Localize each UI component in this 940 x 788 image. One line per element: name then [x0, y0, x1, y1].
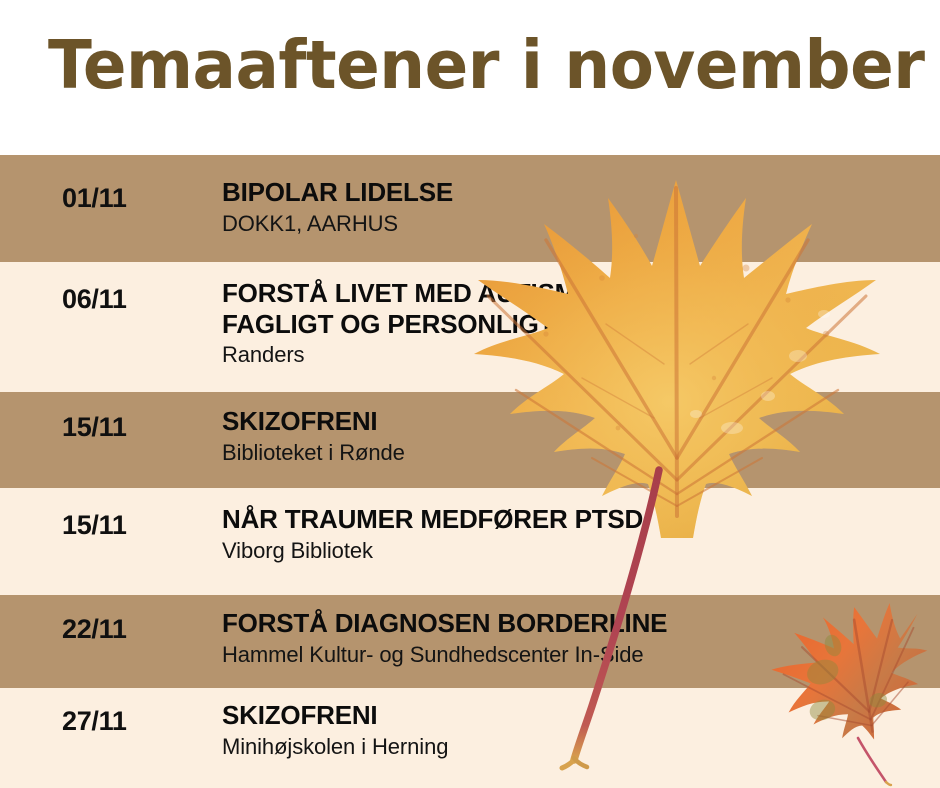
- event-title: BIPOLAR LIDELSE: [222, 177, 932, 208]
- event-title: SKIZOFRENI: [222, 406, 932, 437]
- event-title: FORSTÅ LIVET MED AUTISME UD FRA ET FAGLI…: [222, 278, 932, 339]
- event-text-block: SKIZOFRENIMinihøjskolen i Herning: [222, 700, 932, 761]
- schedule-row: 15/11NÅR TRAUMER MEDFØRER PTSDViborg Bib…: [0, 488, 940, 595]
- schedule-row-inner: 15/11SKIZOFRENIBiblioteket i Rønde: [0, 392, 940, 488]
- event-title: SKIZOFRENI: [222, 700, 932, 731]
- event-text-block: NÅR TRAUMER MEDFØRER PTSDViborg Bibliote…: [222, 504, 932, 565]
- event-date: 15/11: [62, 412, 127, 443]
- event-venue: Biblioteket i Rønde: [222, 440, 932, 467]
- schedule-row-inner: 06/11FORSTÅ LIVET MED AUTISME UD FRA ET …: [0, 262, 940, 392]
- event-venue: Randers: [222, 342, 932, 369]
- event-venue: DOKK1, AARHUS: [222, 211, 932, 238]
- event-text-block: FORSTÅ LIVET MED AUTISME UD FRA ET FAGLI…: [222, 278, 932, 369]
- event-venue: Hammel Kultur- og Sundhedscenter In-Side: [222, 642, 932, 669]
- event-text-block: SKIZOFRENIBiblioteket i Rønde: [222, 406, 932, 467]
- event-venue: Minihøjskolen i Herning: [222, 734, 932, 761]
- event-date: 27/11: [62, 706, 127, 737]
- schedule-row: 06/11FORSTÅ LIVET MED AUTISME UD FRA ET …: [0, 262, 940, 392]
- event-date: 06/11: [62, 284, 127, 315]
- event-title: NÅR TRAUMER MEDFØRER PTSD: [222, 504, 932, 535]
- event-venue: Viborg Bibliotek: [222, 538, 932, 565]
- schedule-row-inner: 27/11SKIZOFRENIMinihøjskolen i Herning: [0, 688, 940, 788]
- schedule-row-inner: 01/11BIPOLAR LIDELSEDOKK1, AARHUS: [0, 155, 940, 262]
- event-text-block: FORSTÅ DIAGNOSEN BORDERLINEHammel Kultur…: [222, 608, 932, 669]
- event-date: 01/11: [62, 183, 127, 214]
- schedule-row: 15/11SKIZOFRENIBiblioteket i Rønde: [0, 392, 940, 488]
- schedule-row: 22/11FORSTÅ DIAGNOSEN BORDERLINEHammel K…: [0, 595, 940, 688]
- event-title: FORSTÅ DIAGNOSEN BORDERLINE: [222, 608, 932, 639]
- schedule-row: 01/11BIPOLAR LIDELSEDOKK1, AARHUS: [0, 155, 940, 262]
- schedule-row-inner: 15/11NÅR TRAUMER MEDFØRER PTSDViborg Bib…: [0, 488, 940, 595]
- schedule-row-inner: 22/11FORSTÅ DIAGNOSEN BORDERLINEHammel K…: [0, 595, 940, 688]
- event-date: 22/11: [62, 614, 127, 645]
- poster-header: Temaaftener i november: [0, 0, 940, 155]
- page-title: Temaaftener i november: [48, 26, 924, 105]
- poster-canvas: 01/11BIPOLAR LIDELSEDOKK1, AARHUS06/11FO…: [0, 0, 940, 788]
- event-text-block: BIPOLAR LIDELSEDOKK1, AARHUS: [222, 177, 932, 238]
- event-date: 15/11: [62, 510, 127, 541]
- schedule-row: 27/11SKIZOFRENIMinihøjskolen i Herning: [0, 688, 940, 788]
